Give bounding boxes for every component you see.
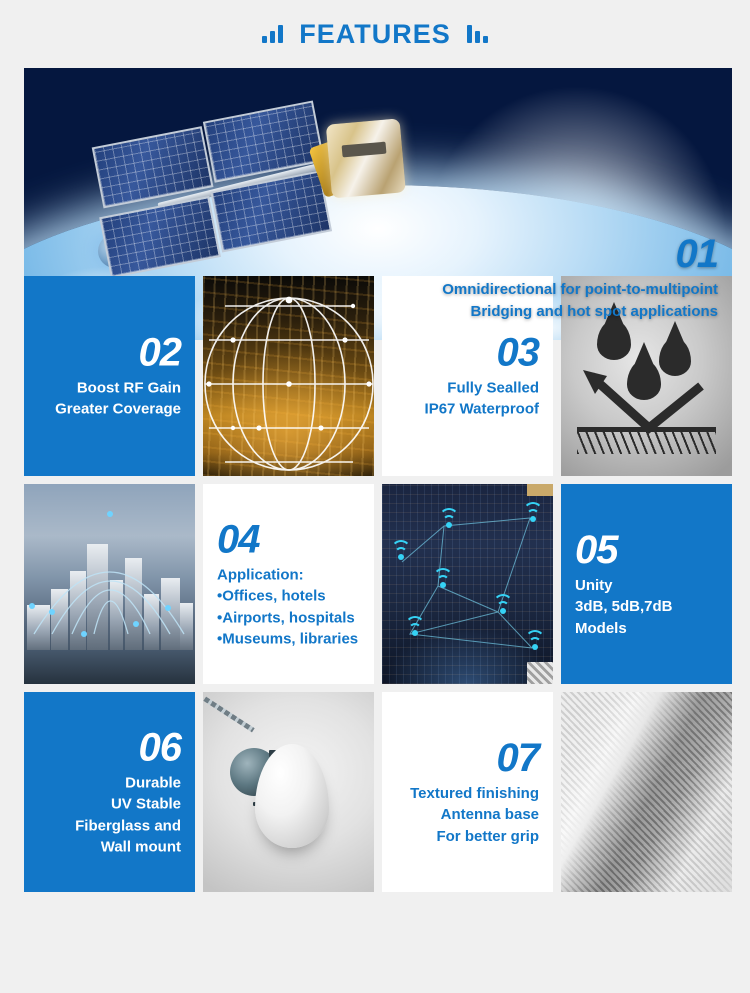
feature-card-06[interactable]: 06 Durable UV Stable Fiberglass and Wall… — [24, 692, 195, 892]
feature-line: UV Stable — [38, 794, 181, 815]
bar-chart-descending-icon — [467, 25, 488, 43]
feature-card-07[interactable]: 07 Textured finishing Antenna base For b… — [382, 692, 553, 892]
wifi-icon — [404, 620, 426, 636]
river-water — [24, 650, 195, 684]
feature-number: 07 — [396, 737, 539, 779]
city-skyline-wireless-arcs-image — [24, 484, 195, 684]
texture-image-card[interactable] — [561, 692, 732, 892]
feature-number: 05 — [575, 529, 718, 571]
feature-number: 01 — [38, 233, 718, 275]
feature-line: Unity — [575, 575, 718, 596]
feature-text-01: 01 Omnidirectional for point-to-multipoi… — [24, 233, 732, 322]
feature-line: Durable — [38, 772, 181, 793]
feature-line: 3dB, 5dB,7dB — [575, 596, 718, 617]
feature-line: Boost RF Gain — [38, 378, 181, 399]
feature-number: 03 — [396, 332, 539, 374]
corner-hatch-decoration — [527, 662, 553, 684]
feature-line: IP67 Waterproof — [396, 399, 539, 420]
feature-text-04: 04 Application: •Offices, hotels •Airpor… — [203, 518, 374, 649]
diagonal-textured-surface-image — [561, 692, 732, 892]
feature-line: For better grip — [396, 826, 539, 847]
features-grid: 01 Omnidirectional for point-to-multipoi… — [24, 68, 726, 892]
feature-line: Greater Coverage — [38, 399, 181, 420]
feature-line: Models — [575, 618, 718, 639]
feature-number: 02 — [38, 332, 181, 374]
feature-line: Antenna base — [396, 804, 539, 825]
feature-number: 06 — [38, 726, 181, 768]
wrecking-ball-egg-durability-image — [203, 692, 374, 892]
feature-text-06: 06 Durable UV Stable Fiberglass and Wall… — [24, 726, 195, 857]
feature-line: Wall mount — [38, 836, 181, 857]
wifi-icon — [522, 506, 544, 522]
feature-line: Textured finishing — [396, 783, 539, 804]
wifi-icon — [390, 544, 412, 560]
feature-number: 04 — [217, 518, 360, 560]
wifi-icon — [492, 598, 514, 614]
feature-line: Fully Sealled — [396, 378, 539, 399]
feature-text-07: 07 Textured finishing Antenna base For b… — [382, 737, 553, 847]
feature-line: •Offices, hotels — [217, 586, 360, 607]
page-title: FEATURES — [299, 19, 451, 50]
surface-hatching — [577, 432, 716, 454]
egg-durability-image-card[interactable] — [203, 692, 374, 892]
corner-tab-decoration — [527, 484, 553, 496]
feature-text-03: 03 Fully Sealled IP67 Waterproof — [382, 332, 553, 421]
satellite-body — [326, 118, 406, 198]
city-arcs-image-card[interactable] — [24, 484, 195, 684]
page-header: FEATURES — [0, 0, 750, 68]
feature-line: Fiberglass and — [38, 815, 181, 836]
bar-chart-ascending-icon — [262, 25, 283, 43]
feature-card-05[interactable]: 05 Unity 3dB, 5dB,7dB Models — [561, 484, 732, 684]
feature-line: •Museums, libraries — [217, 628, 360, 649]
wifi-icon — [432, 572, 454, 588]
feature-text-02: 02 Boost RF Gain Greater Coverage — [24, 332, 195, 421]
feature-line: Omnidirectional for point-to-multipoint — [38, 279, 718, 300]
feature-line: •Airports, hospitals — [217, 607, 360, 628]
feature-text-05: 05 Unity 3dB, 5dB,7dB Models — [561, 529, 732, 639]
chain-graphic — [203, 697, 254, 733]
wifi-icon — [438, 512, 460, 528]
feature-line: Application: — [217, 564, 360, 585]
feature-card-01[interactable]: 01 Omnidirectional for point-to-multipoi… — [24, 68, 732, 340]
wifi-icon — [524, 634, 546, 650]
feature-line: Bridging and hot spot applications — [38, 301, 718, 322]
feature-card-04[interactable]: 04 Application: •Offices, hotels •Airpor… — [203, 484, 374, 684]
city-wifi-image-card[interactable] — [382, 484, 553, 684]
